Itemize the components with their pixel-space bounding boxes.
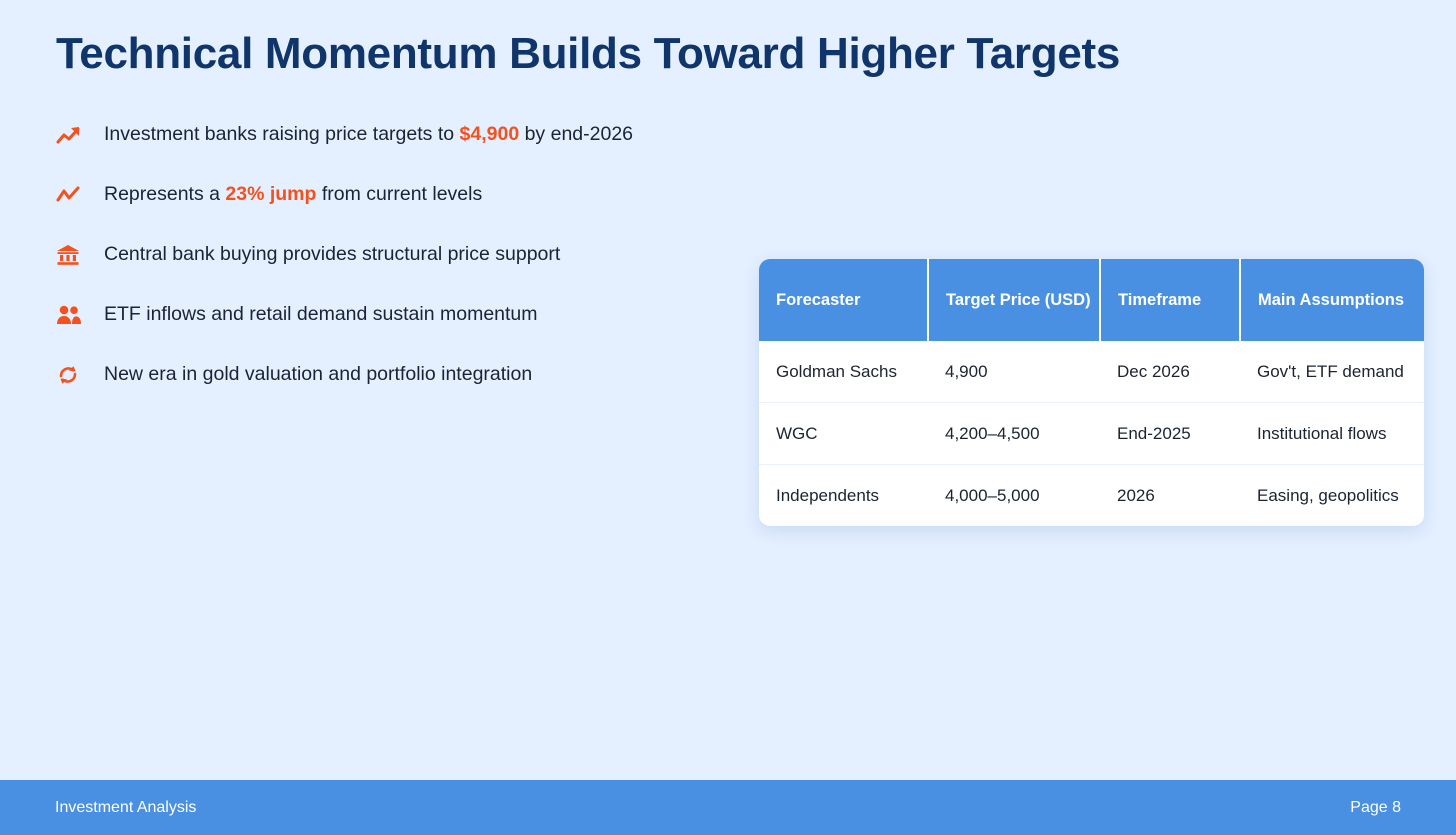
list-item: New era in gold valuation and portfolio …: [56, 358, 746, 418]
bullet-2-pre: Represents a: [104, 183, 225, 205]
list-item: Represents a 23% jump from current level…: [56, 178, 746, 238]
trending-up-icon: [56, 122, 90, 148]
cell-forecaster: Independents: [759, 465, 928, 527]
list-item-text: Investment banks raising price targets t…: [104, 121, 633, 147]
forecast-table-card: Forecaster Target Price (USD) Timeframe …: [759, 259, 1424, 526]
cell-forecaster: Goldman Sachs: [759, 341, 928, 403]
column-header-target-price: Target Price (USD): [928, 259, 1100, 341]
column-header-forecaster: Forecaster: [759, 259, 928, 341]
refresh-icon: [56, 362, 90, 388]
table-header-row: Forecaster Target Price (USD) Timeframe …: [759, 259, 1424, 341]
table-row: Goldman Sachs 4,900 Dec 2026 Gov't, ETF …: [759, 341, 1424, 403]
column-header-timeframe: Timeframe: [1100, 259, 1240, 341]
bullet-2-highlight: 23% jump: [225, 183, 316, 205]
cell-forecaster: WGC: [759, 403, 928, 465]
line-chart-icon: [56, 182, 90, 208]
table-body: Goldman Sachs 4,900 Dec 2026 Gov't, ETF …: [759, 341, 1424, 526]
cell-target-price: 4,900: [928, 341, 1100, 403]
bullet-1-highlight: $4,900: [460, 123, 520, 145]
slide: Technical Momentum Builds Toward Higher …: [0, 0, 1456, 835]
list-item-text: New era in gold valuation and portfolio …: [104, 361, 532, 387]
cell-assumptions: Institutional flows: [1240, 403, 1424, 465]
bullet-2-post: from current levels: [316, 183, 482, 205]
column-header-assumptions: Main Assumptions: [1240, 259, 1424, 341]
slide-footer: Investment Analysis Page 8: [0, 780, 1456, 835]
cell-assumptions: Gov't, ETF demand: [1240, 341, 1424, 403]
cell-timeframe: Dec 2026: [1100, 341, 1240, 403]
page-title: Technical Momentum Builds Toward Higher …: [56, 26, 1120, 82]
list-item-text: Central bank buying provides structural …: [104, 241, 560, 267]
table-row: WGC 4,200–4,500 End-2025 Institutional f…: [759, 403, 1424, 465]
cell-timeframe: End-2025: [1100, 403, 1240, 465]
forecast-table: Forecaster Target Price (USD) Timeframe …: [759, 259, 1424, 526]
table-row: Independents 4,000–5,000 2026 Easing, ge…: [759, 465, 1424, 527]
list-item: Investment banks raising price targets t…: [56, 118, 746, 178]
list-item: Central bank buying provides structural …: [56, 238, 746, 298]
people-icon: [56, 302, 90, 328]
bullet-1-post: by end-2026: [519, 123, 633, 145]
cell-timeframe: 2026: [1100, 465, 1240, 527]
bank-icon: [56, 242, 90, 268]
cell-target-price: 4,000–5,000: [928, 465, 1100, 527]
page-number-label: Page 8: [1350, 798, 1401, 818]
list-item: ETF inflows and retail demand sustain mo…: [56, 298, 746, 358]
list-item-text: ETF inflows and retail demand sustain mo…: [104, 301, 538, 327]
table-header: Forecaster Target Price (USD) Timeframe …: [759, 259, 1424, 341]
cell-target-price: 4,200–4,500: [928, 403, 1100, 465]
cell-assumptions: Easing, geopolitics: [1240, 465, 1424, 527]
bullet-1-pre: Investment banks raising price targets t…: [104, 123, 460, 145]
list-item-text: Represents a 23% jump from current level…: [104, 181, 482, 207]
bullet-list: Investment banks raising price targets t…: [56, 118, 746, 418]
footer-label: Investment Analysis: [55, 798, 196, 818]
